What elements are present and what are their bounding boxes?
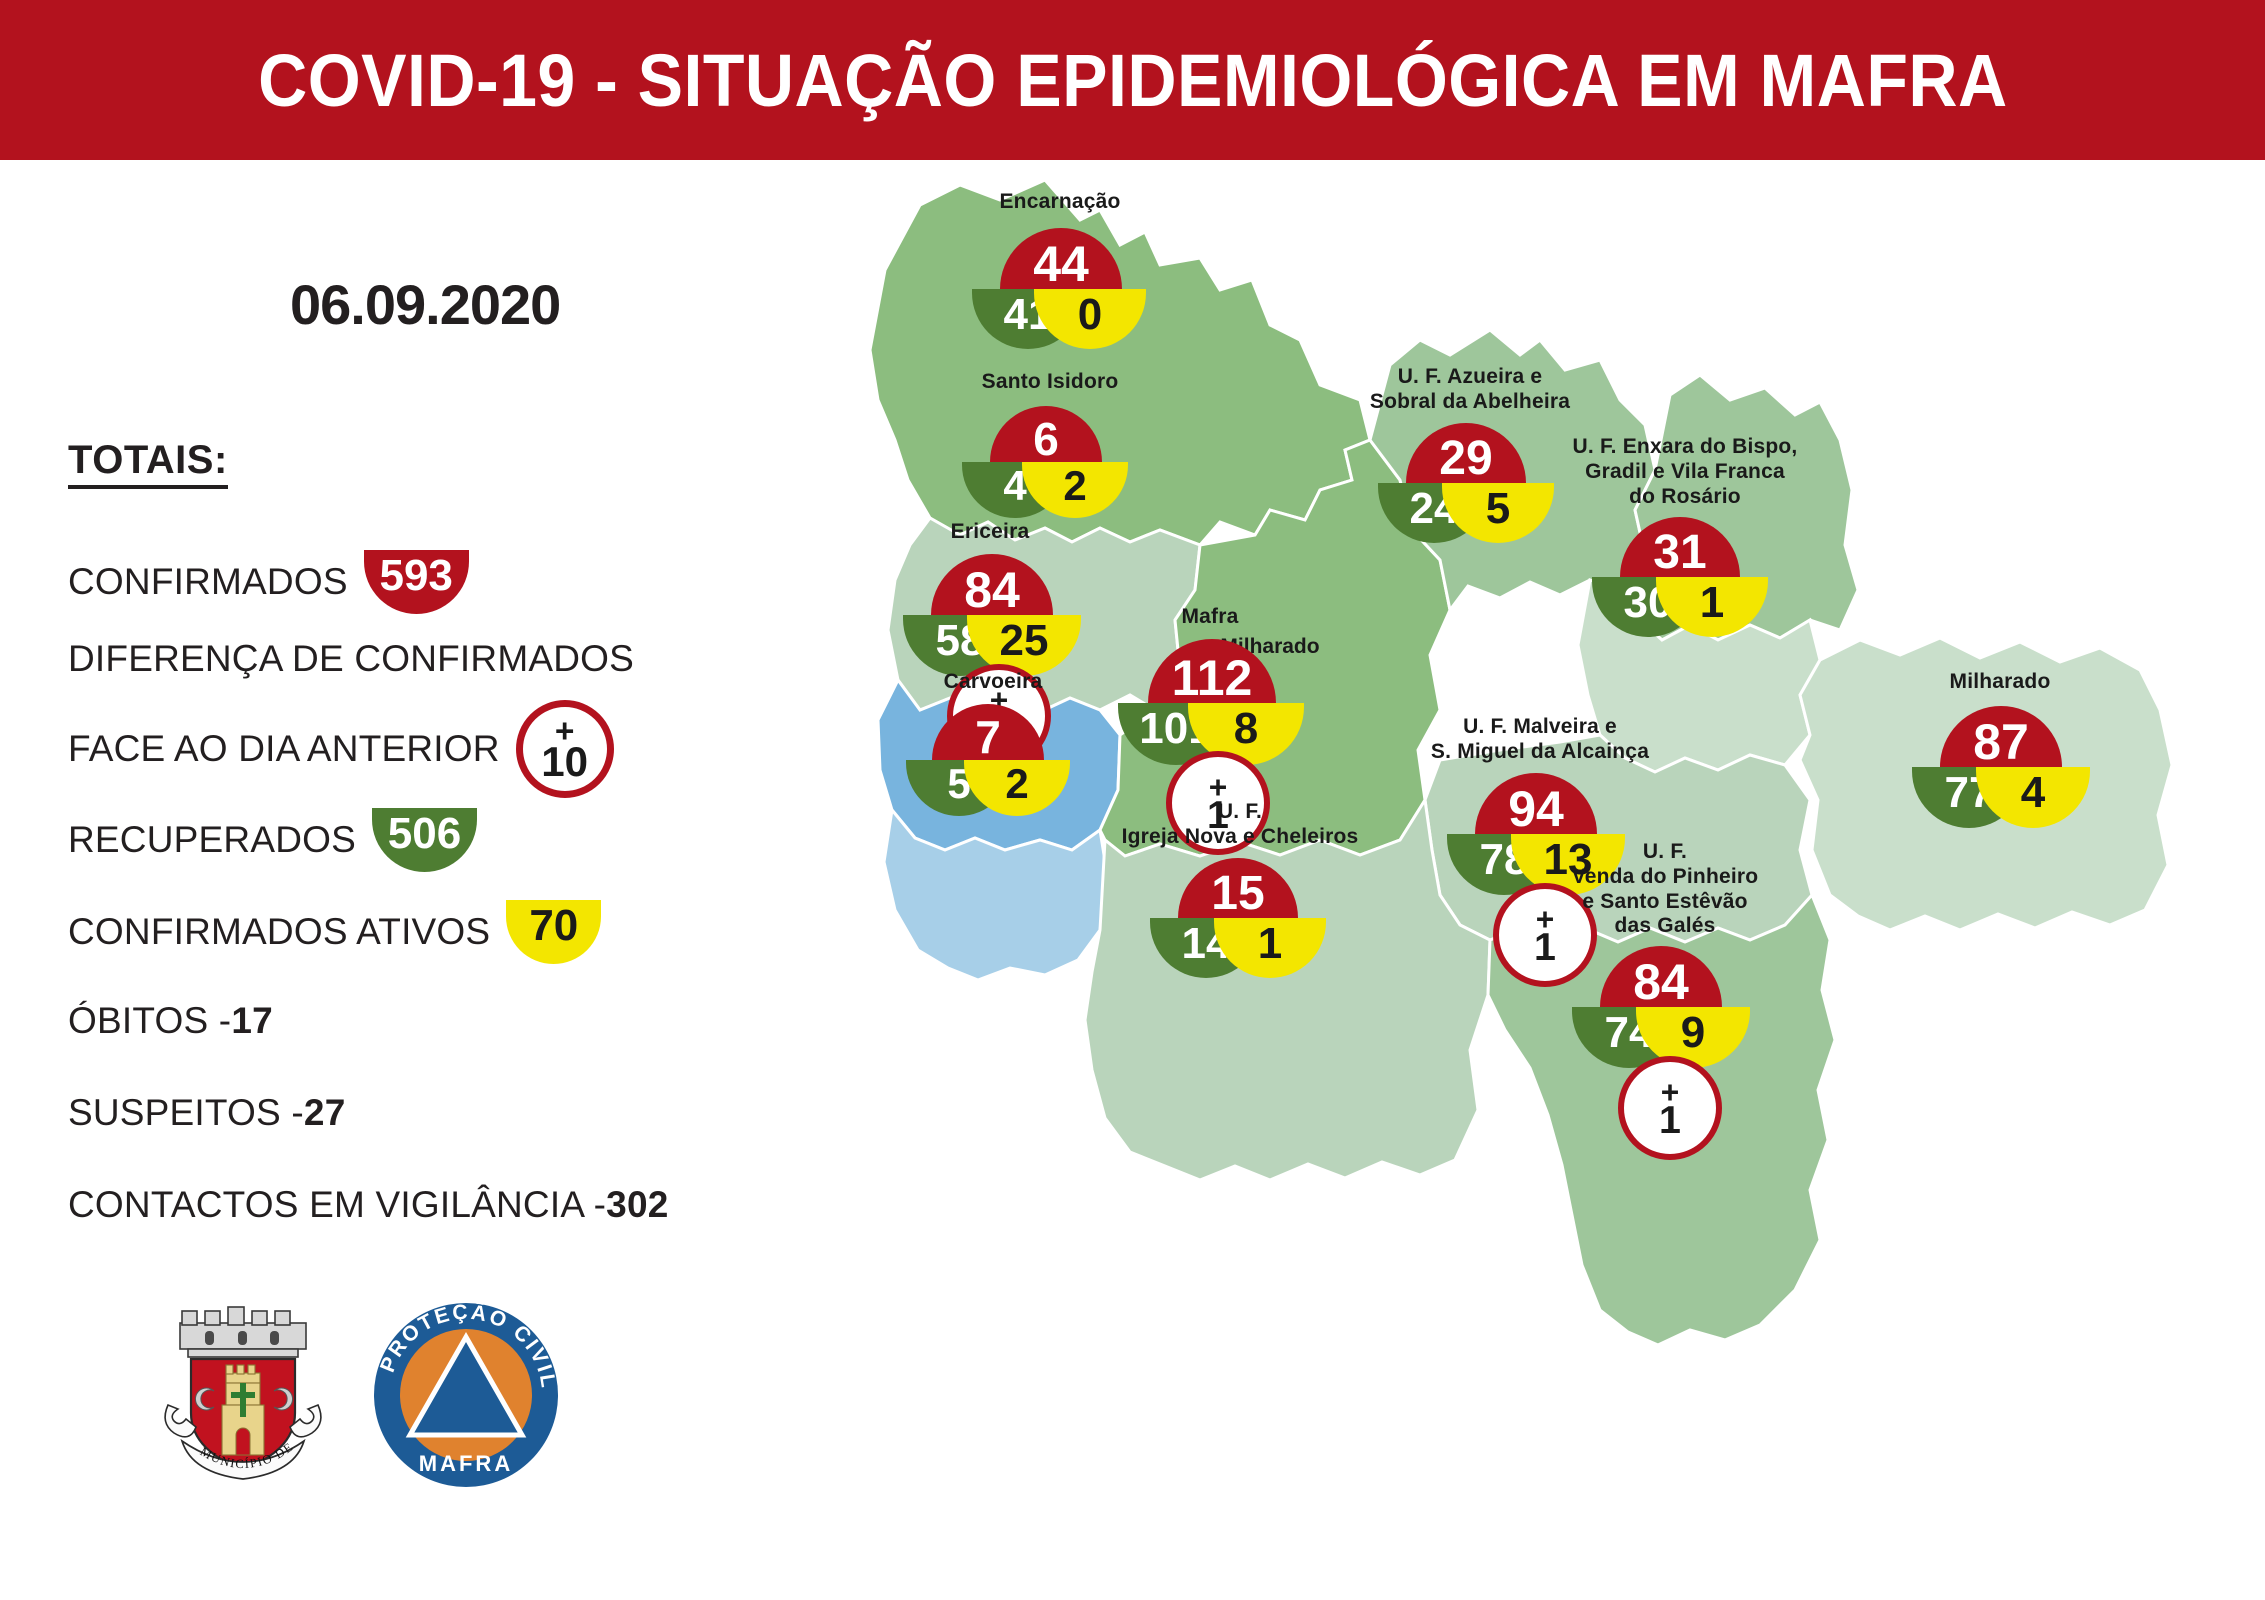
totals-heading: TOTAIS: xyxy=(68,438,228,489)
marker-label-azueira-sobral: U. F. Azueira e Sobral da Abelheira xyxy=(1370,365,1570,415)
marker-delta-venda-pinheiro-santo-estevao: + 1 xyxy=(1618,1056,1722,1160)
marker-label-milharado: Milharado xyxy=(1950,670,2051,695)
label-suspeitos: SUSPEITOS - xyxy=(68,1092,304,1134)
total-row-diferenca-line2: FACE AO DIA ANTERIOR + 10 xyxy=(68,700,614,798)
label-recuperados: RECUPERADOS xyxy=(68,819,356,861)
municipio-de-mafra-logo: MUNICÍPIO DE MAFRA xyxy=(148,1295,338,1495)
totals-sidebar: 06.09.2020 TOTAIS: CONFIRMADOS 593 DIFER… xyxy=(0,160,820,1600)
marker-label-ericeira: Ericeira xyxy=(951,520,1030,545)
total-row-suspeitos: SUSPEITOS - 27 xyxy=(68,1092,345,1134)
value-obitos: 17 xyxy=(231,1000,273,1042)
label-vigilancia: CONTACTOS EM VIGILÂNCIA - xyxy=(68,1184,606,1226)
total-row-vigilancia: CONTACTOS EM VIGILÂNCIA - 302 xyxy=(68,1184,669,1226)
delta-value: 10 xyxy=(541,745,588,780)
marker-label-igreja-nova-cheleiros: U. F. Igreja Nova e Cheleiros xyxy=(1122,800,1359,850)
total-row-diferenca-line1: DIFERENÇA DE CONFIRMADOS xyxy=(68,638,634,680)
badge-confirmados: 593 xyxy=(364,550,469,614)
badge-recuperados: 506 xyxy=(372,808,477,872)
marker-label-enxara-gradil-vilafranca: U. F. Enxara do Bispo, Gradil e Vila Fra… xyxy=(1573,435,1798,509)
protecao-civil-mafra-logo: PROTEÇÃO CIVIL MAFRA xyxy=(366,1295,566,1495)
marker-label-carvoeira: Carvoeira xyxy=(944,670,1043,695)
label-confirmados: CONFIRMADOS xyxy=(68,561,348,603)
mafra-municipality-map: Milharado Encarnação 44 41 0 Santo Isido… xyxy=(800,150,2265,1600)
total-row-ativos: CONFIRMADOS ATIVOS 70 xyxy=(68,900,601,964)
page-title: COVID-19 - SITUAÇÃO EPIDEMIOLÓGICA EM MA… xyxy=(258,38,2008,123)
total-row-recuperados: RECUPERADOS 506 xyxy=(68,808,477,872)
label-obitos: ÓBITOS - xyxy=(68,1000,231,1042)
marker-label-santo-isidoro: Santo Isidoro xyxy=(982,370,1119,395)
marker-label-encarnacao: Encarnação xyxy=(999,190,1120,215)
label-diferenca-line1: DIFERENÇA DE CONFIRMADOS xyxy=(68,638,634,680)
report-date: 06.09.2020 xyxy=(290,272,560,337)
page-header: COVID-19 - SITUAÇÃO EPIDEMIOLÓGICA EM MA… xyxy=(0,0,2265,160)
badge-diferenca-delta: + 10 xyxy=(516,700,614,798)
label-diferenca-line2: FACE AO DIA ANTERIOR xyxy=(68,728,500,770)
region-igreja-nova-cheleiros xyxy=(1085,800,1490,1180)
value-suspeitos: 27 xyxy=(304,1092,346,1134)
value-vigilancia: 302 xyxy=(606,1184,668,1226)
total-row-confirmados: CONFIRMADOS 593 xyxy=(68,550,469,614)
protecao-civil-caption-bottom: MAFRA xyxy=(419,1451,513,1476)
marker-delta-value-venda-pinheiro-santo-estevao: 1 xyxy=(1659,1105,1681,1136)
marker-label-venda-pinheiro-santo-estevao: U. F. Venda do Pinheiro e Santo Estêvão … xyxy=(1572,840,1759,939)
marker-label-mafra: Mafra xyxy=(1181,605,1238,630)
marker-delta-value-malveira-alcainca: 1 xyxy=(1534,932,1556,963)
footer-logos: MUNICÍPIO DE MAFRA PROTEÇÃO CIVIL MAFRA xyxy=(148,1295,566,1495)
total-row-obitos: ÓBITOS - 17 xyxy=(68,1000,273,1042)
label-ativos: CONFIRMADOS ATIVOS xyxy=(68,911,490,953)
badge-ativos: 70 xyxy=(506,900,601,964)
marker-label-malveira-alcainca: U. F. Malveira e S. Miguel da Alcainça xyxy=(1431,715,1649,765)
